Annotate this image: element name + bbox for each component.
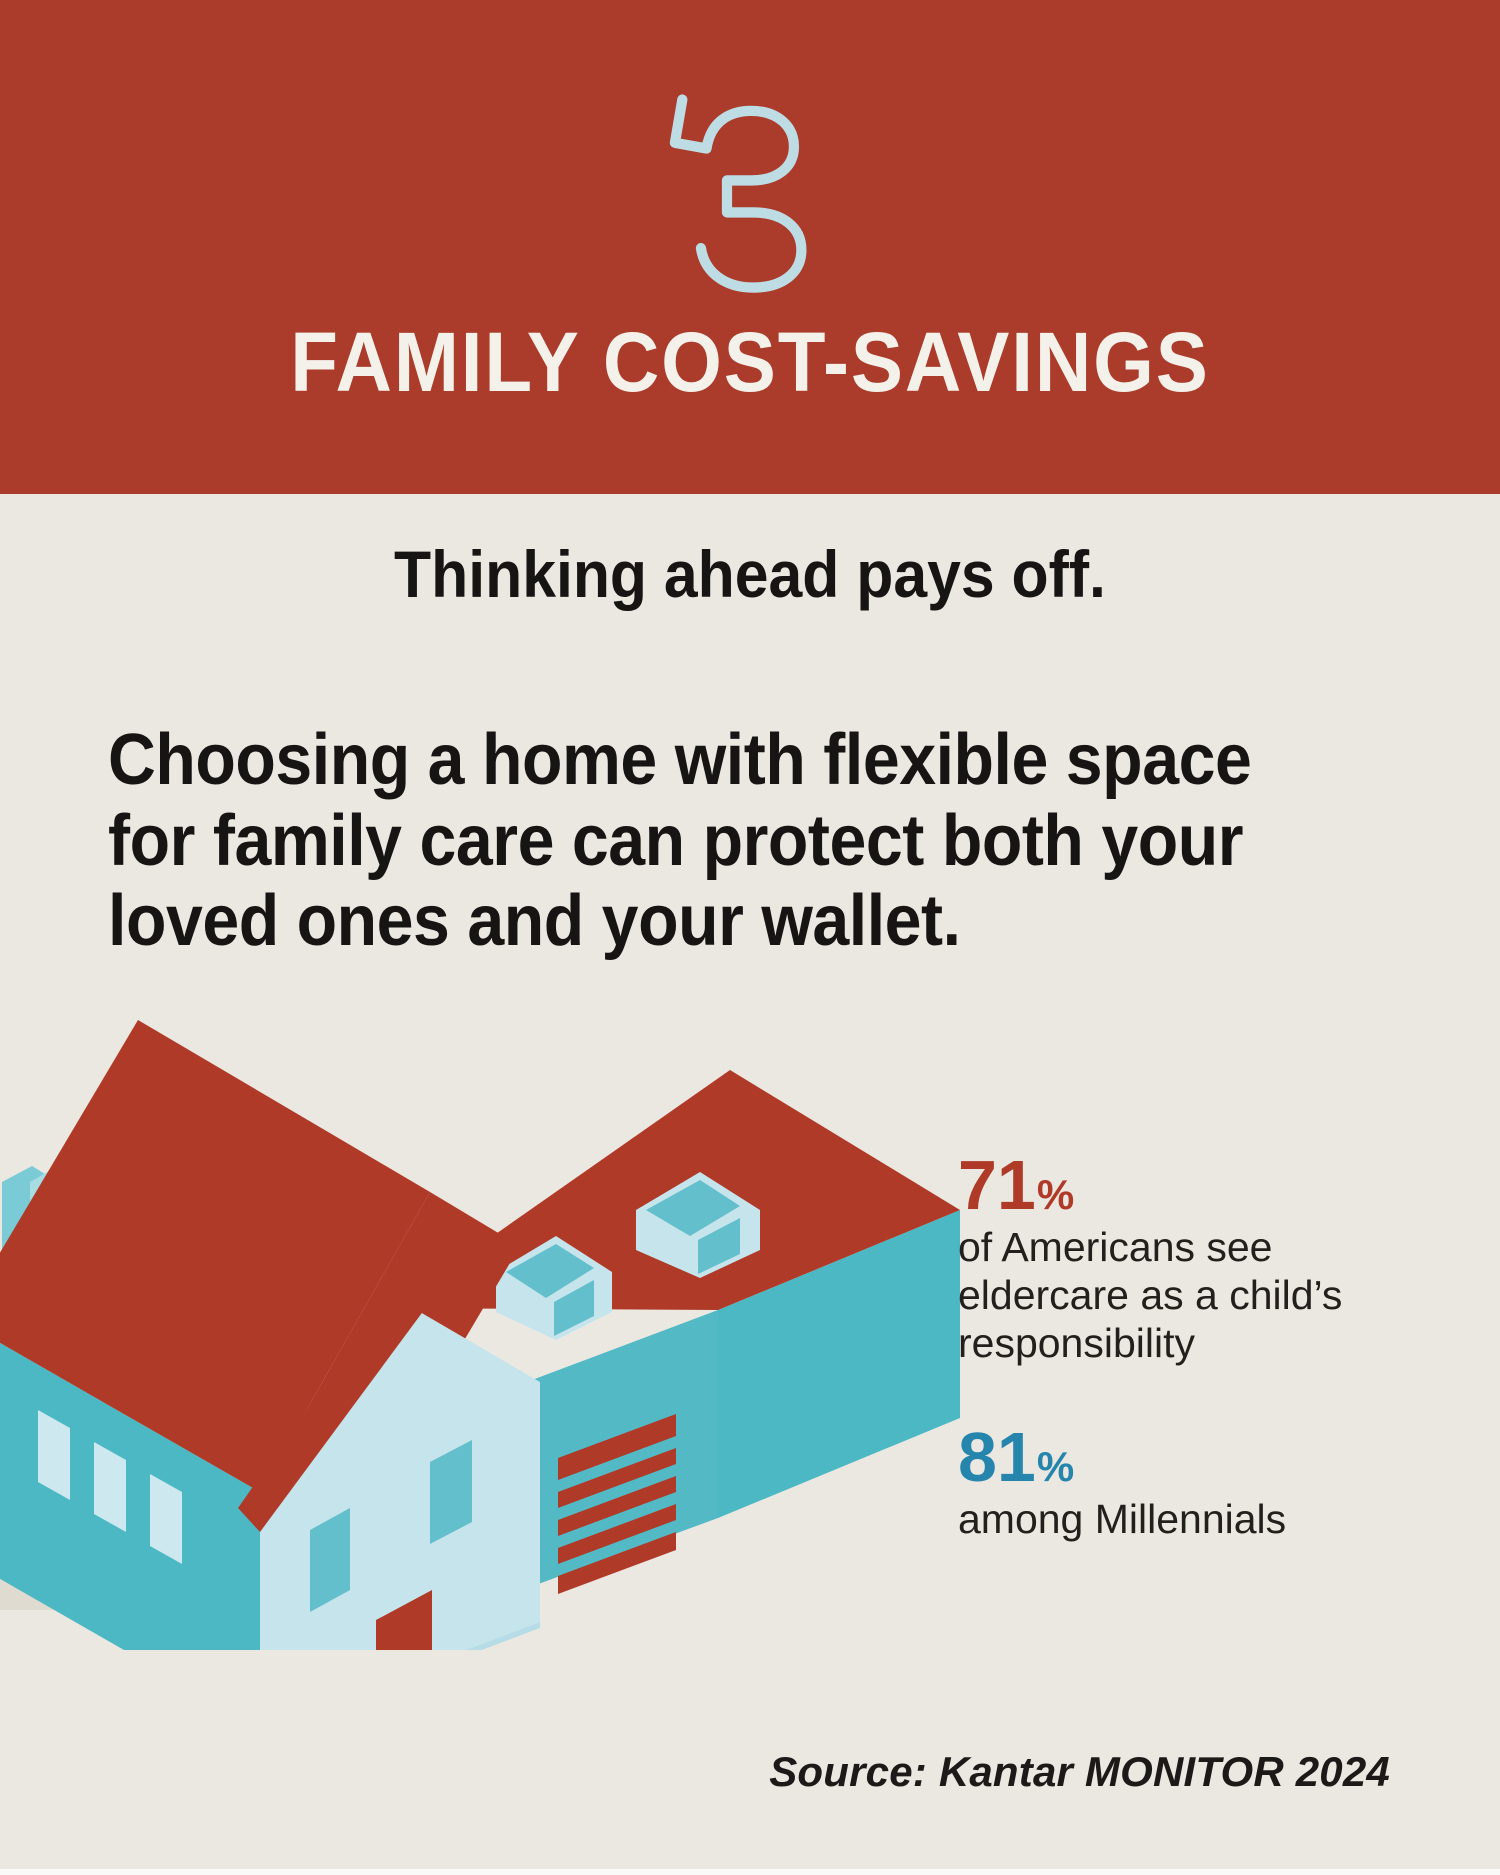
infographic-page: FAMILY COST-SAVINGS Thinking ahead pays … xyxy=(0,0,1500,1875)
stat-caption-71: of Americans see eldercare as a child’s … xyxy=(958,1224,1428,1368)
stat-block-71: 71% of Americans see eldercare as a chil… xyxy=(958,1150,1428,1368)
lede-text: Thinking ahead pays off. xyxy=(60,540,1440,609)
caption-line: among Millennials xyxy=(958,1496,1428,1544)
stat-value-81: 81% xyxy=(958,1422,1428,1492)
source-citation: Source: Kantar MONITOR 2024 xyxy=(769,1748,1390,1796)
stat-number-text: 71 xyxy=(958,1146,1036,1224)
stat-block-81: 81% among Millennials xyxy=(958,1422,1428,1544)
stat-caption-81: among Millennials xyxy=(958,1496,1428,1544)
stat-percent-sign: % xyxy=(1037,1171,1074,1218)
body-paragraph: Choosing a home with flexible space for … xyxy=(108,720,1304,962)
section-number-three-icon xyxy=(0,78,1500,318)
caption-line: eldercare as a child’s xyxy=(958,1272,1428,1320)
stat-value-71: 71% xyxy=(958,1150,1428,1220)
statistics-panel: 71% of Americans see eldercare as a chil… xyxy=(958,1150,1428,1598)
paragraph-line-1: Choosing a home with flexible space xyxy=(108,720,1304,801)
header-band: FAMILY COST-SAVINGS xyxy=(0,0,1500,494)
paragraph-line-2: for family care can protect both your xyxy=(108,801,1304,882)
caption-line: responsibility xyxy=(958,1320,1428,1368)
stat-number-text: 81 xyxy=(958,1418,1036,1496)
page-title: FAMILY COST-SAVINGS xyxy=(53,320,1448,404)
house-illustration xyxy=(0,1010,960,1650)
stat-percent-sign: % xyxy=(1037,1443,1074,1490)
page-bottom-edge xyxy=(0,1869,1500,1875)
paragraph-line-3: loved ones and your wallet. xyxy=(108,881,1304,962)
caption-line: of Americans see xyxy=(958,1224,1428,1272)
